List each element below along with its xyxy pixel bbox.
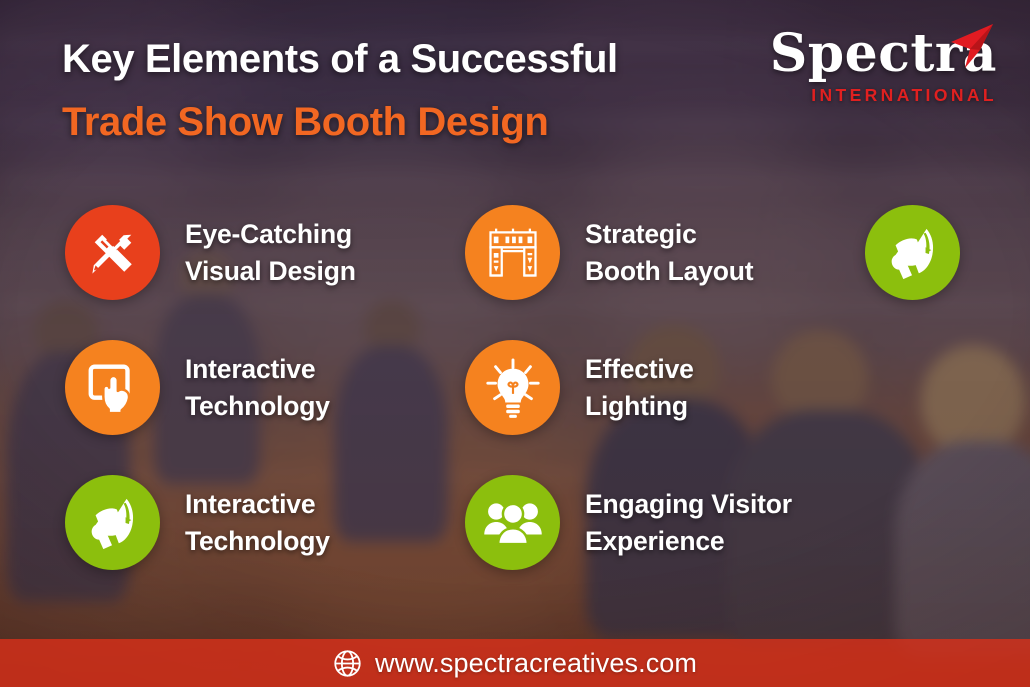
- people-group-icon: [483, 500, 543, 546]
- list-item[interactable]: Eye-Catching Visual Design: [65, 205, 356, 300]
- list-item-label: Interactive Technology: [185, 351, 330, 423]
- title-line-accent: Trade Show Booth Design: [62, 99, 618, 146]
- list-item[interactable]: [865, 205, 985, 300]
- list-item-label: Engaging Visitor Experience: [585, 486, 792, 558]
- red-arrow-icon: [921, 22, 995, 78]
- list-item[interactable]: Effective Lighting: [465, 340, 694, 435]
- title-line-primary: Key Elements of a Successful: [62, 36, 618, 83]
- list-item-label: Strategic Booth Layout: [585, 216, 753, 288]
- globe-icon: [333, 649, 362, 678]
- lightbulb-icon: [482, 357, 544, 419]
- website-url[interactable]: www.spectracreatives.com: [375, 648, 697, 679]
- list-item-label: Interactive Technology: [185, 486, 330, 558]
- infographic-poster: Key Elements of a Successful Trade Show …: [0, 0, 1030, 687]
- list-item[interactable]: Interactive Technology: [65, 340, 330, 435]
- list-item-label: Eye-Catching Visual Design: [185, 216, 356, 288]
- list-item[interactable]: Interactive Technology: [65, 475, 330, 570]
- icon-badge: [65, 340, 160, 435]
- poster-header: Key Elements of a Successful Trade Show …: [0, 0, 1030, 180]
- icon-badge: [65, 205, 160, 300]
- ruler-pencil-icon: [83, 223, 143, 283]
- icon-badge: [465, 205, 560, 300]
- page-title: Key Elements of a Successful Trade Show …: [62, 36, 618, 146]
- megaphone-icon: [82, 494, 144, 552]
- brand-logo[interactable]: Spectra INTERNATIONAL: [765, 28, 997, 114]
- icon-badge: [465, 340, 560, 435]
- icon-badge: [465, 475, 560, 570]
- megaphone-icon: [882, 224, 944, 282]
- list-item-label: Effective Lighting: [585, 351, 694, 423]
- list-item[interactable]: Engaging Visitor Experience: [465, 475, 792, 570]
- footer-bar: www.spectracreatives.com: [0, 639, 1030, 687]
- list-item[interactable]: Strategic Booth Layout: [465, 205, 753, 300]
- exhibition-booth-icon: [484, 223, 542, 283]
- icon-badge: [865, 205, 960, 300]
- touch-screen-hand-icon: [84, 359, 142, 417]
- logo-subtitle: INTERNATIONAL: [765, 85, 997, 106]
- elements-grid: Eye-Catching Visual Design: [0, 205, 1030, 600]
- icon-badge: [65, 475, 160, 570]
